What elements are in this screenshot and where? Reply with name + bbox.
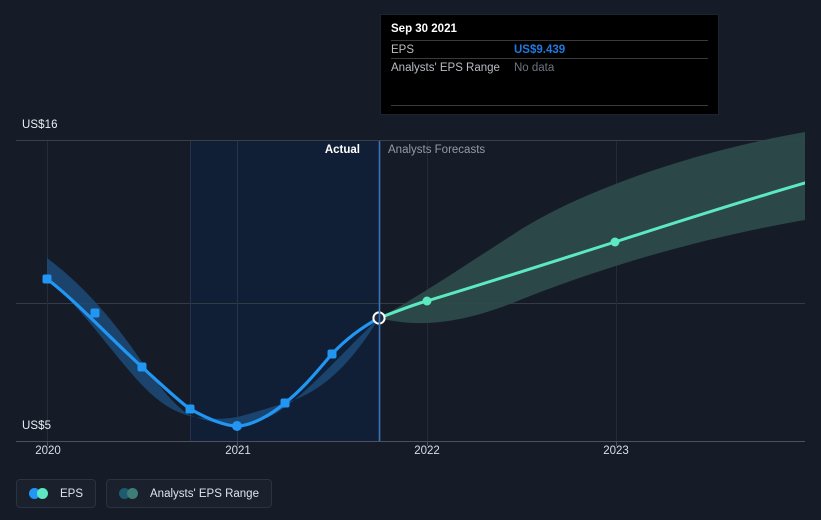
tooltip-row-range: Analysts' EPS Range No data (391, 58, 708, 76)
chart-legend: EPS Analysts' EPS Range (16, 479, 272, 508)
x-axis-label-2023: 2023 (603, 445, 629, 457)
y-axis-label-bottom: US$5 (22, 420, 51, 432)
eps-data-point[interactable] (281, 399, 290, 408)
tooltip-key-range: Analysts' EPS Range (391, 62, 514, 74)
eps-forecast-point[interactable] (611, 238, 620, 247)
eps-forecast-chart: US$16 US$5 2020 2021 2022 2023 Actual An… (0, 0, 821, 520)
eps-forecast-point[interactable] (423, 297, 432, 306)
x-axis-label-2022: 2022 (414, 445, 440, 457)
eps-data-point[interactable] (43, 275, 52, 284)
tooltip-value-eps: US$9.439 (514, 44, 565, 56)
eps-data-point[interactable] (328, 350, 337, 359)
tooltip-title: Sep 30 2021 (391, 22, 708, 40)
x-axis-label-2021: 2021 (225, 445, 251, 457)
legend-item-eps[interactable]: EPS (16, 479, 96, 508)
actual-period-region (190, 141, 379, 441)
tooltip-footer-divider (391, 105, 708, 106)
legend-label-analysts-range: Analysts' EPS Range (150, 488, 259, 500)
series-dot-icon (119, 488, 141, 499)
data-point-tooltip: Sep 30 2021 EPS US$9.439 Analysts' EPS R… (380, 14, 719, 115)
x-axis-label-2020: 2020 (35, 445, 61, 457)
eps-data-point[interactable] (232, 421, 242, 431)
eps-data-point[interactable] (186, 405, 195, 414)
tooltip-row-eps: EPS US$9.439 (391, 40, 708, 58)
tooltip-key-eps: EPS (391, 44, 514, 56)
analysts-eps-range-band (379, 132, 805, 323)
eps-data-point[interactable] (91, 309, 100, 318)
tooltip-value-range: No data (514, 62, 554, 74)
legend-label-eps: EPS (60, 488, 83, 500)
legend-item-analysts-range[interactable]: Analysts' EPS Range (106, 479, 272, 508)
series-dot-icon (29, 488, 51, 499)
y-axis-label-top: US$16 (22, 119, 58, 131)
eps-data-point[interactable] (138, 363, 147, 372)
